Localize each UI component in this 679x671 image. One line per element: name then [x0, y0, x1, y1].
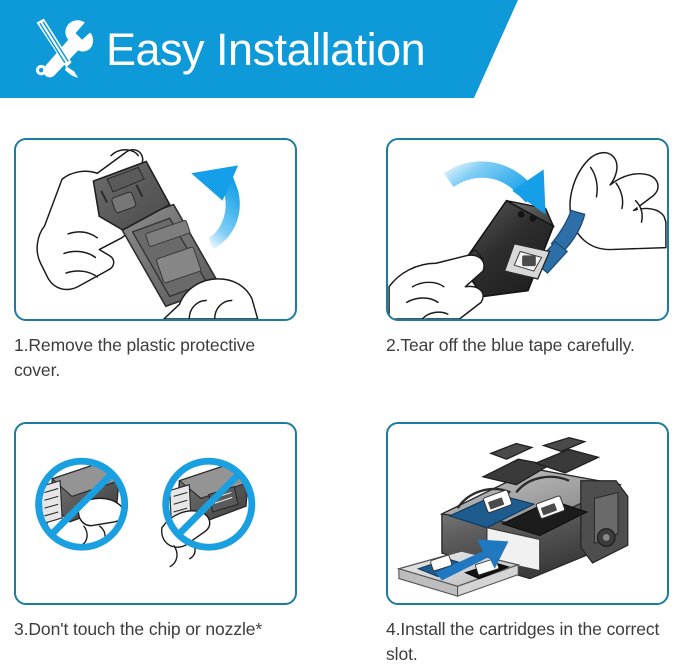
page-title: Easy Installation	[106, 27, 425, 72]
step-3-illustration	[14, 422, 297, 605]
step-4: 4.Install the cartridges in the correct …	[386, 422, 673, 667]
step-4-illustration	[386, 422, 669, 605]
step-2-caption: 2.Tear off the blue tape carefully.	[386, 333, 673, 358]
steps-grid: 1.Remove the plastic protective cover.	[0, 98, 679, 671]
step-3-caption: 3.Don't touch the chip or nozzle*	[14, 617, 301, 642]
printer-carriage-cartridge-install-illustration	[388, 424, 667, 603]
prohibition-nozzle	[162, 461, 252, 567]
hands-removing-plastic-cover-illustration	[16, 140, 295, 319]
step-3: 3.Don't touch the chip or nozzle*	[14, 422, 301, 642]
prohibition-chip	[39, 461, 125, 547]
do-not-touch-chip-or-nozzle-illustration	[16, 424, 295, 603]
step-2-illustration	[386, 138, 669, 321]
step-4-caption: 4.Install the cartridges in the correct …	[386, 617, 673, 667]
step-1-caption: 1.Remove the plastic protective cover.	[14, 333, 301, 383]
hands-peeling-blue-tape-illustration	[388, 140, 667, 319]
step-2: 2.Tear off the blue tape carefully.	[386, 138, 673, 358]
wrench-screwdriver-icon	[28, 16, 94, 82]
banner-content: Easy Installation	[0, 0, 525, 98]
header-banner: Easy Installation	[0, 0, 679, 98]
step-1-illustration	[14, 138, 297, 321]
step-1: 1.Remove the plastic protective cover.	[14, 138, 301, 383]
